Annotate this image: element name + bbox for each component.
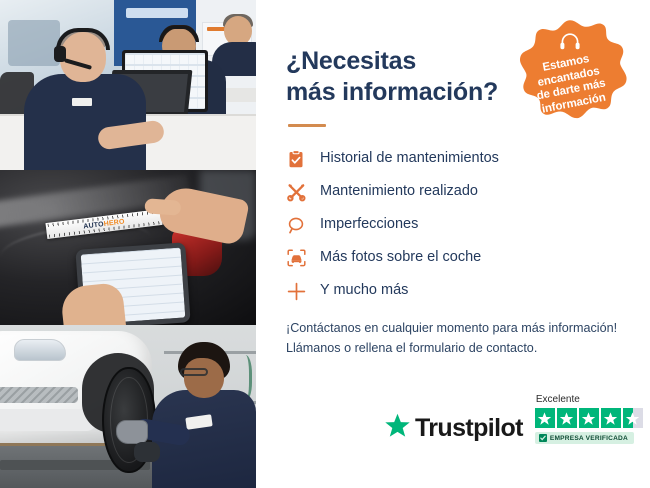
trustpilot-rating-label: Excelente — [536, 394, 580, 405]
contact-line-1: ¡Contáctanos en cualquier momento para m… — [286, 321, 617, 335]
verified-business-badge: EMPRESA VERIFICADA — [535, 432, 634, 444]
info-promo-card: AUTOHERO — [0, 0, 650, 488]
car-scan-icon — [286, 248, 306, 268]
feature-item-mas: Y mucho más — [286, 281, 620, 301]
star-filled — [601, 408, 621, 428]
info-badge: Estamos encantados de darte más informac… — [504, 18, 636, 150]
feature-item-fotos: Más fotos sobre el coche — [286, 248, 620, 268]
trustpilot-star-icon — [384, 413, 411, 444]
page-title-line-1: ¿Necesitas — [286, 47, 416, 75]
star-half — [623, 408, 643, 428]
verified-label: EMPRESA VERIFICADA — [550, 435, 628, 442]
call-center-agents-photo — [0, 0, 256, 170]
content-panel: ¿Necesitas más información? Historial de… — [256, 0, 650, 488]
car-inspection-ruler-photo: AUTOHERO — [0, 170, 256, 325]
feature-label: Más fotos sobre el coche — [320, 249, 481, 266]
page-title-line-2: más información? — [286, 78, 498, 106]
feature-label: Mantenimiento realizado — [320, 183, 478, 200]
feature-label: Historial de mantenimientos — [320, 150, 499, 167]
wrench-screwdriver-icon — [286, 182, 306, 202]
mechanic — [152, 342, 256, 488]
headset-icon — [559, 32, 581, 56]
feature-label: Y mucho más — [320, 282, 408, 299]
photo-column: AUTOHERO — [0, 0, 256, 488]
trustpilot-rating: Excelente — [535, 394, 643, 444]
plus-icon — [286, 281, 306, 301]
page-title: ¿Necesitas más información? — [286, 46, 526, 108]
check-icon — [539, 434, 547, 442]
clipboard-check-icon — [286, 149, 306, 169]
contact-text: ¡Contáctanos en cualquier momento para m… — [286, 319, 620, 358]
magnifier-icon — [286, 215, 306, 235]
star-filled — [557, 408, 577, 428]
star-filled — [535, 408, 555, 428]
trustpilot-logo: Trustpilot — [384, 413, 523, 444]
feature-label: Imperfecciones — [320, 216, 418, 233]
star-filled — [579, 408, 599, 428]
feature-item-mantenimiento: Mantenimiento realizado — [286, 182, 620, 202]
trustpilot-wordmark: Trustpilot — [415, 414, 523, 443]
title-divider — [288, 124, 326, 127]
agent-foreground — [24, 32, 146, 170]
trustpilot-stars — [535, 408, 643, 428]
contact-line-2: Llámanos o rellena el formulario de cont… — [286, 341, 537, 355]
feature-item-imperfecciones: Imperfecciones — [286, 215, 620, 235]
badge-text: Estamos encantados de darte más informac… — [514, 48, 626, 121]
trustpilot-widget[interactable]: Trustpilot Excelente — [384, 394, 643, 444]
feature-list: Historial de mantenimientos Mantenimient… — [286, 149, 620, 301]
feature-item-historial: Historial de mantenimientos — [286, 149, 620, 169]
mechanic-wheel-photo — [0, 325, 256, 488]
